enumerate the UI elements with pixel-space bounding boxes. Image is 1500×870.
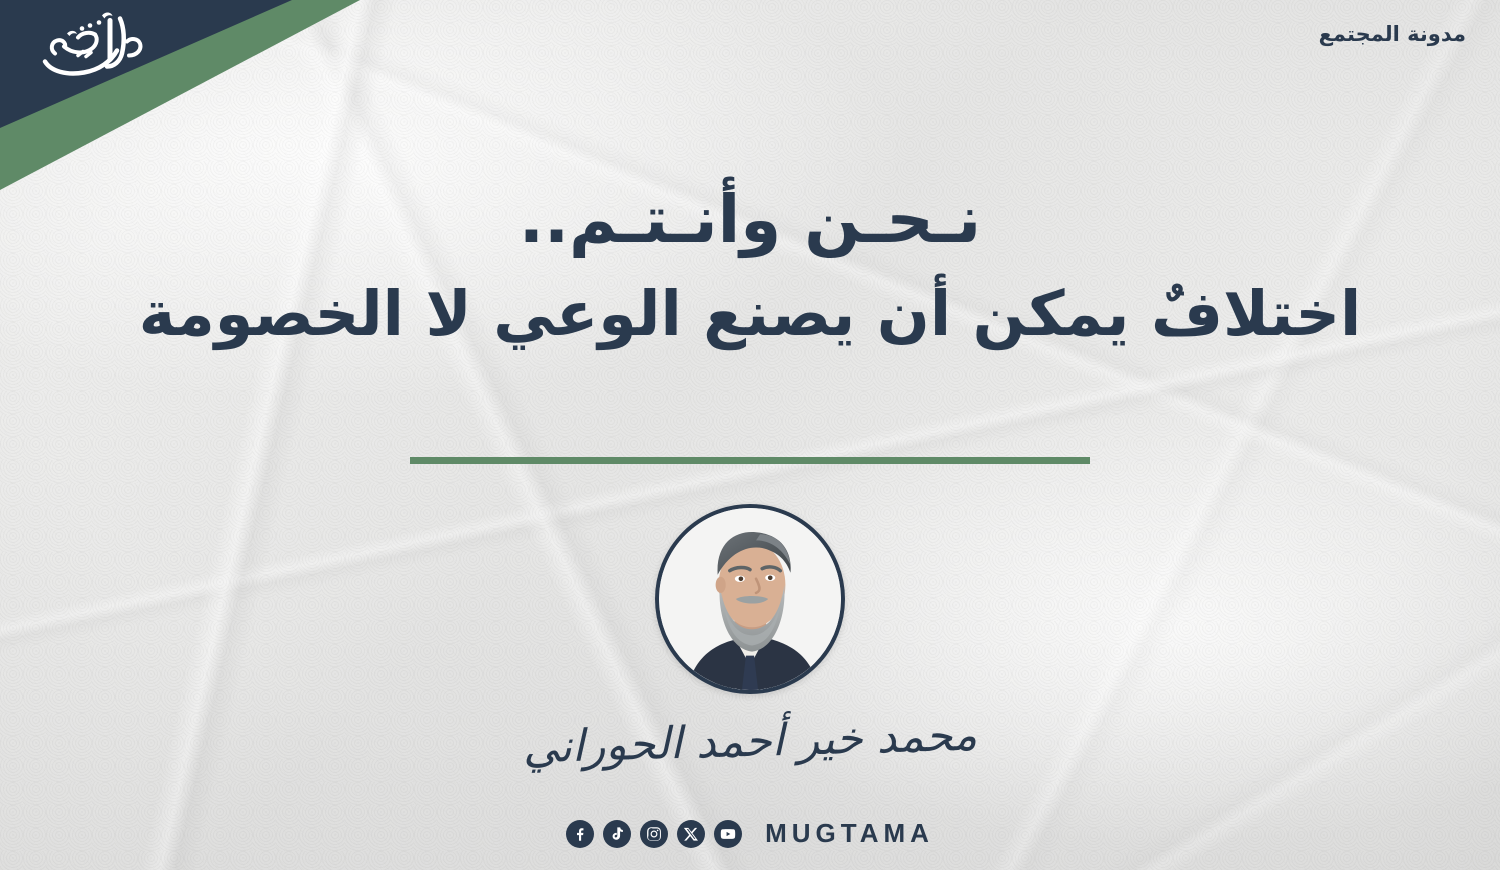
green-divider bbox=[410, 457, 1090, 464]
quote-block: نـحـن وأنـتـم.. اختلافٌ يمكن أن يصنع الو… bbox=[0, 178, 1500, 354]
tiktok-icon[interactable] bbox=[603, 820, 631, 848]
x-twitter-icon[interactable] bbox=[677, 820, 705, 848]
author-avatar bbox=[655, 504, 845, 694]
quote-card: مدونة المجتمع نـحـن وأنـتـم.. اختلافٌ يم… bbox=[0, 0, 1500, 870]
blog-label: مدونة المجتمع bbox=[1319, 22, 1466, 46]
quote-line-1: نـحـن وأنـتـم.. bbox=[0, 178, 1500, 262]
footer-social-bar: MUGTAMA bbox=[0, 818, 1500, 849]
mugtama-wordmark: MUGTAMA bbox=[765, 818, 934, 849]
mugtama-logo-icon[interactable] bbox=[36, 6, 156, 84]
youtube-icon[interactable] bbox=[714, 820, 742, 848]
instagram-icon[interactable] bbox=[640, 820, 668, 848]
facebook-icon[interactable] bbox=[566, 820, 594, 848]
quote-line-2: اختلافٌ يمكن أن يصنع الوعي لا الخصومة bbox=[0, 274, 1500, 353]
